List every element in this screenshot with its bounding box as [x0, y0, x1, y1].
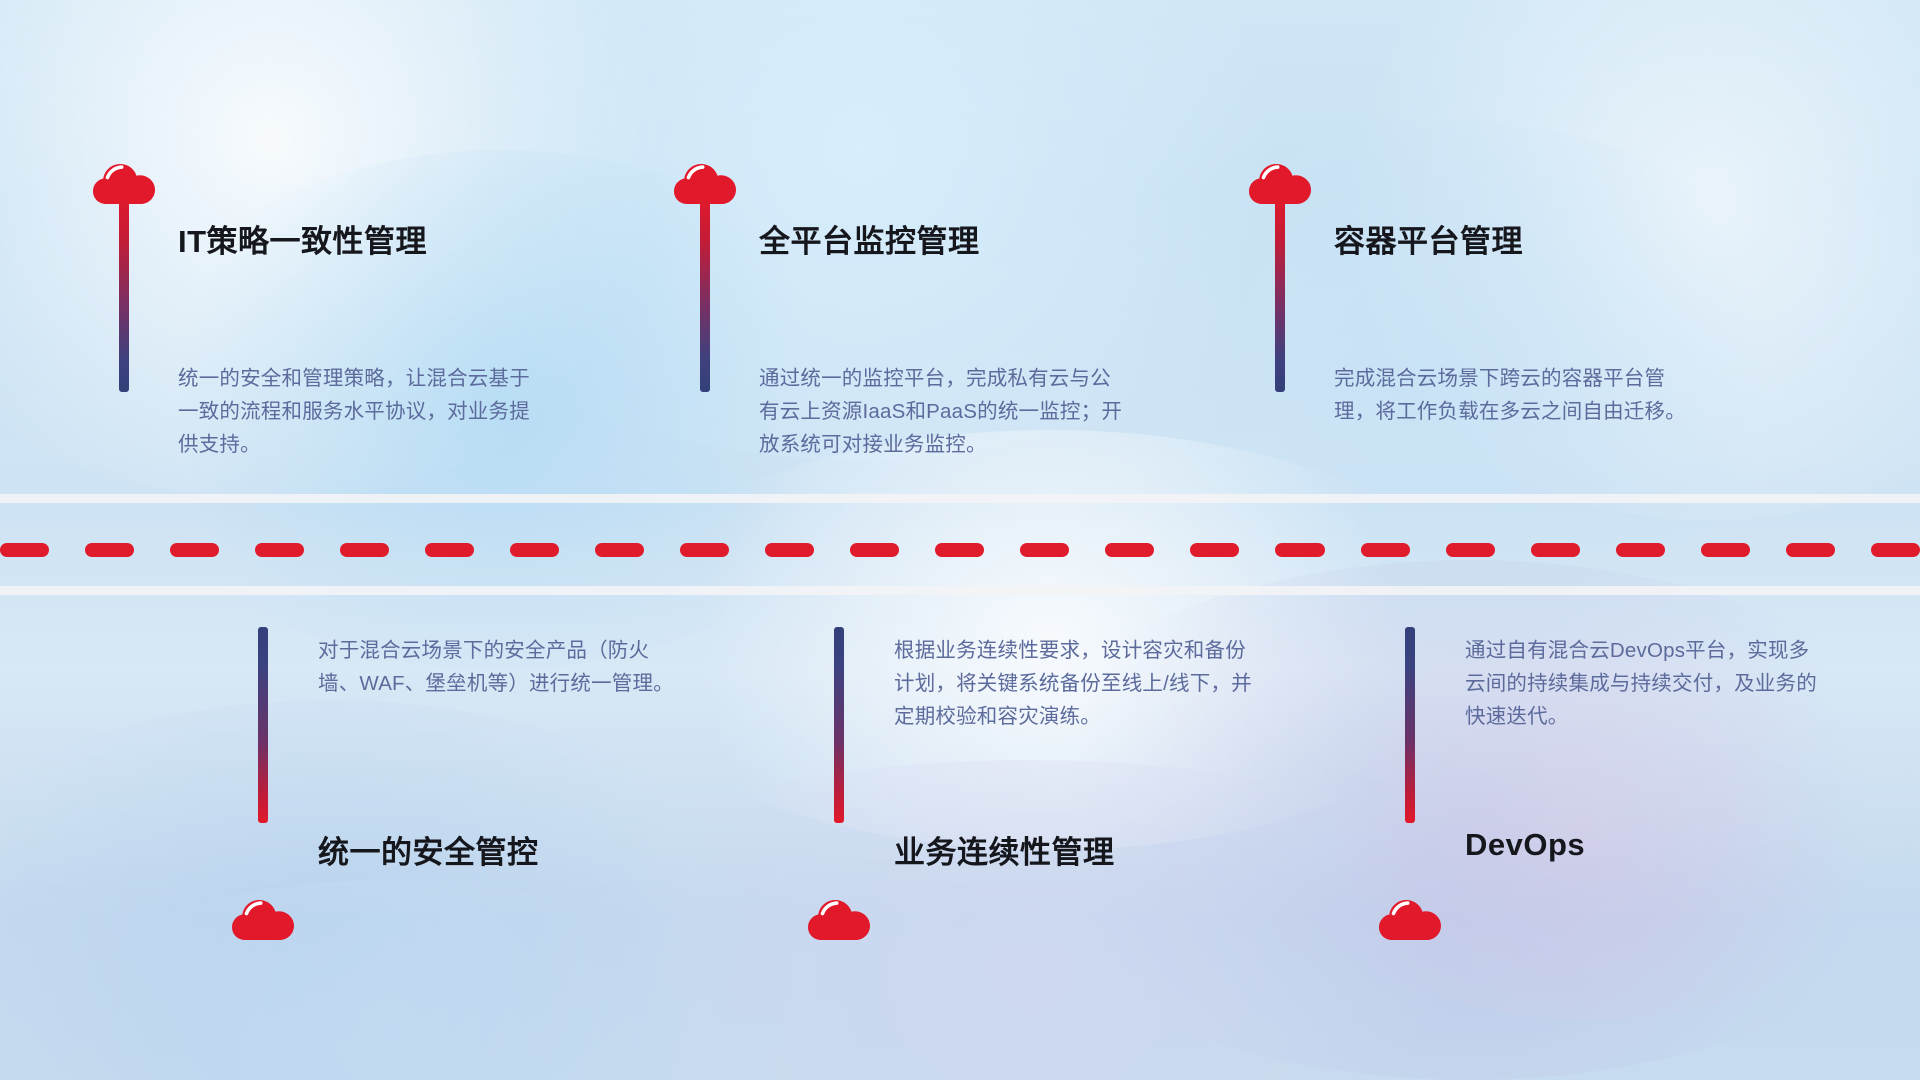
divider-dash: [425, 543, 474, 557]
divider-dash: [1446, 543, 1495, 557]
cloud-icon: [231, 896, 295, 942]
divider-dash: [765, 543, 814, 557]
divider-dash: [1616, 543, 1665, 557]
column-heading: DevOps: [1465, 827, 1585, 863]
divider-dash: [1105, 543, 1154, 557]
divider-dash: [1020, 543, 1069, 557]
divider-dash: [595, 543, 644, 557]
column-body: 对于混合云场景下的安全产品（防火墙、WAF、堡垒机等）进行统一管理。: [318, 634, 678, 700]
column-body: 通过自有混合云DevOps平台，实现多云间的持续集成与持续交付，及业务的快速迭代…: [1465, 634, 1825, 733]
column-heading: 容器平台管理: [1334, 216, 1523, 261]
column-body: 完成混合云场景下跨云的容器平台管理，将工作负载在多云之间自由迁移。: [1334, 362, 1704, 428]
divider-dash: [340, 543, 389, 557]
divider-dash: [85, 543, 134, 557]
divider-rail-top: [0, 494, 1920, 503]
column-heading: 业务连续性管理: [894, 827, 1115, 872]
divider-dashed-line: [0, 543, 1920, 557]
column-heading: 全平台监控管理: [759, 216, 980, 261]
divider-dash: [935, 543, 984, 557]
divider-dash: [1786, 543, 1835, 557]
cloud-icon: [807, 896, 871, 942]
divider-dash: [850, 543, 899, 557]
stem-bar: [119, 196, 129, 392]
stem-bar: [258, 627, 268, 823]
column-heading: 统一的安全管控: [318, 827, 539, 872]
divider-dash: [1361, 543, 1410, 557]
divider-dash: [680, 543, 729, 557]
column-body: 通过统一的监控平台，完成私有云与公有云上资源IaaS和PaaS的统一监控；开放系…: [759, 362, 1129, 461]
stem-bar: [1275, 196, 1285, 392]
divider-dash: [1701, 543, 1750, 557]
cloud-icon: [1378, 896, 1442, 942]
column-body: 根据业务连续性要求，设计容灾和备份计划，将关键系统备份至线上/线下，并定期校验和…: [894, 634, 1254, 733]
column-body: 统一的安全和管理策略，让混合云基于一致的流程和服务水平协议，对业务提供支持。: [178, 362, 548, 461]
column-heading: IT策略一致性管理: [178, 216, 427, 261]
divider-dash: [1531, 543, 1580, 557]
divider-dash: [1275, 543, 1324, 557]
stem-bar: [700, 196, 710, 392]
divider-dash: [255, 543, 304, 557]
divider-dash: [0, 543, 49, 557]
infographic-canvas: IT策略一致性管理 统一的安全和管理策略，让混合云基于一致的流程和服务水平协议，…: [0, 0, 1920, 1080]
divider-dash: [1871, 543, 1920, 557]
divider-dash: [1190, 543, 1239, 557]
stem-bar: [834, 627, 844, 823]
stem-bar: [1405, 627, 1415, 823]
divider-dash: [170, 543, 219, 557]
divider-dash: [510, 543, 559, 557]
divider-rail-bottom: [0, 586, 1920, 595]
